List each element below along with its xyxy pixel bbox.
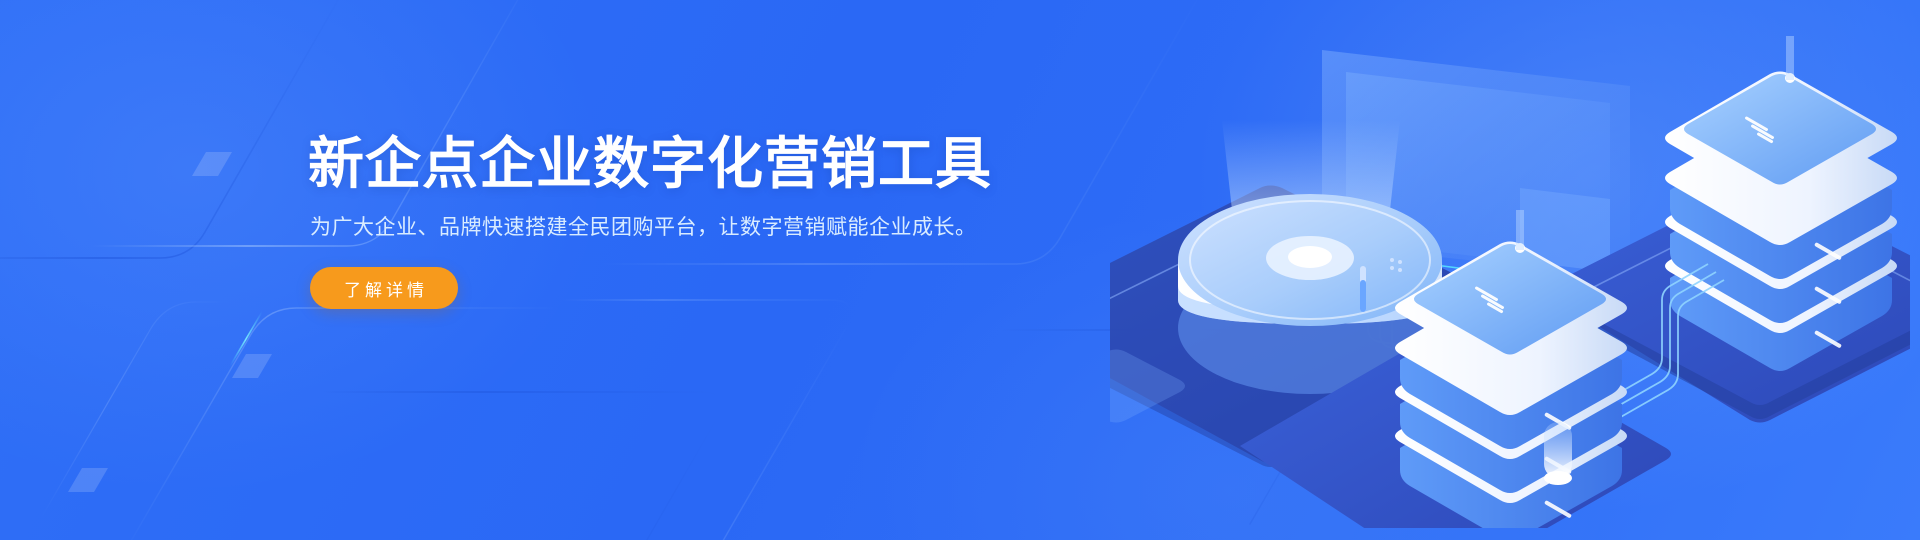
- hero-content: 新企点企业数字化营销工具 为广大企业、品牌快速搭建全民团购平台，让数字营销赋能企…: [308, 132, 1028, 309]
- learn-more-button[interactable]: 了解详情: [310, 267, 458, 309]
- page-title: 新企点企业数字化营销工具: [308, 132, 1028, 196]
- server-stack-right: [1665, 36, 1897, 371]
- hero-illustration: ¥: [1110, 28, 1910, 528]
- hero-banner: 新企点企业数字化营销工具 为广大企业、品牌快速搭建全民团购平台，让数字营销赋能企…: [0, 0, 1920, 540]
- page-subtitle: 为广大企业、品牌快速搭建全民团购平台，让数字营销赋能企业成长。: [310, 212, 1028, 244]
- pill-indicator-front: [1544, 422, 1572, 485]
